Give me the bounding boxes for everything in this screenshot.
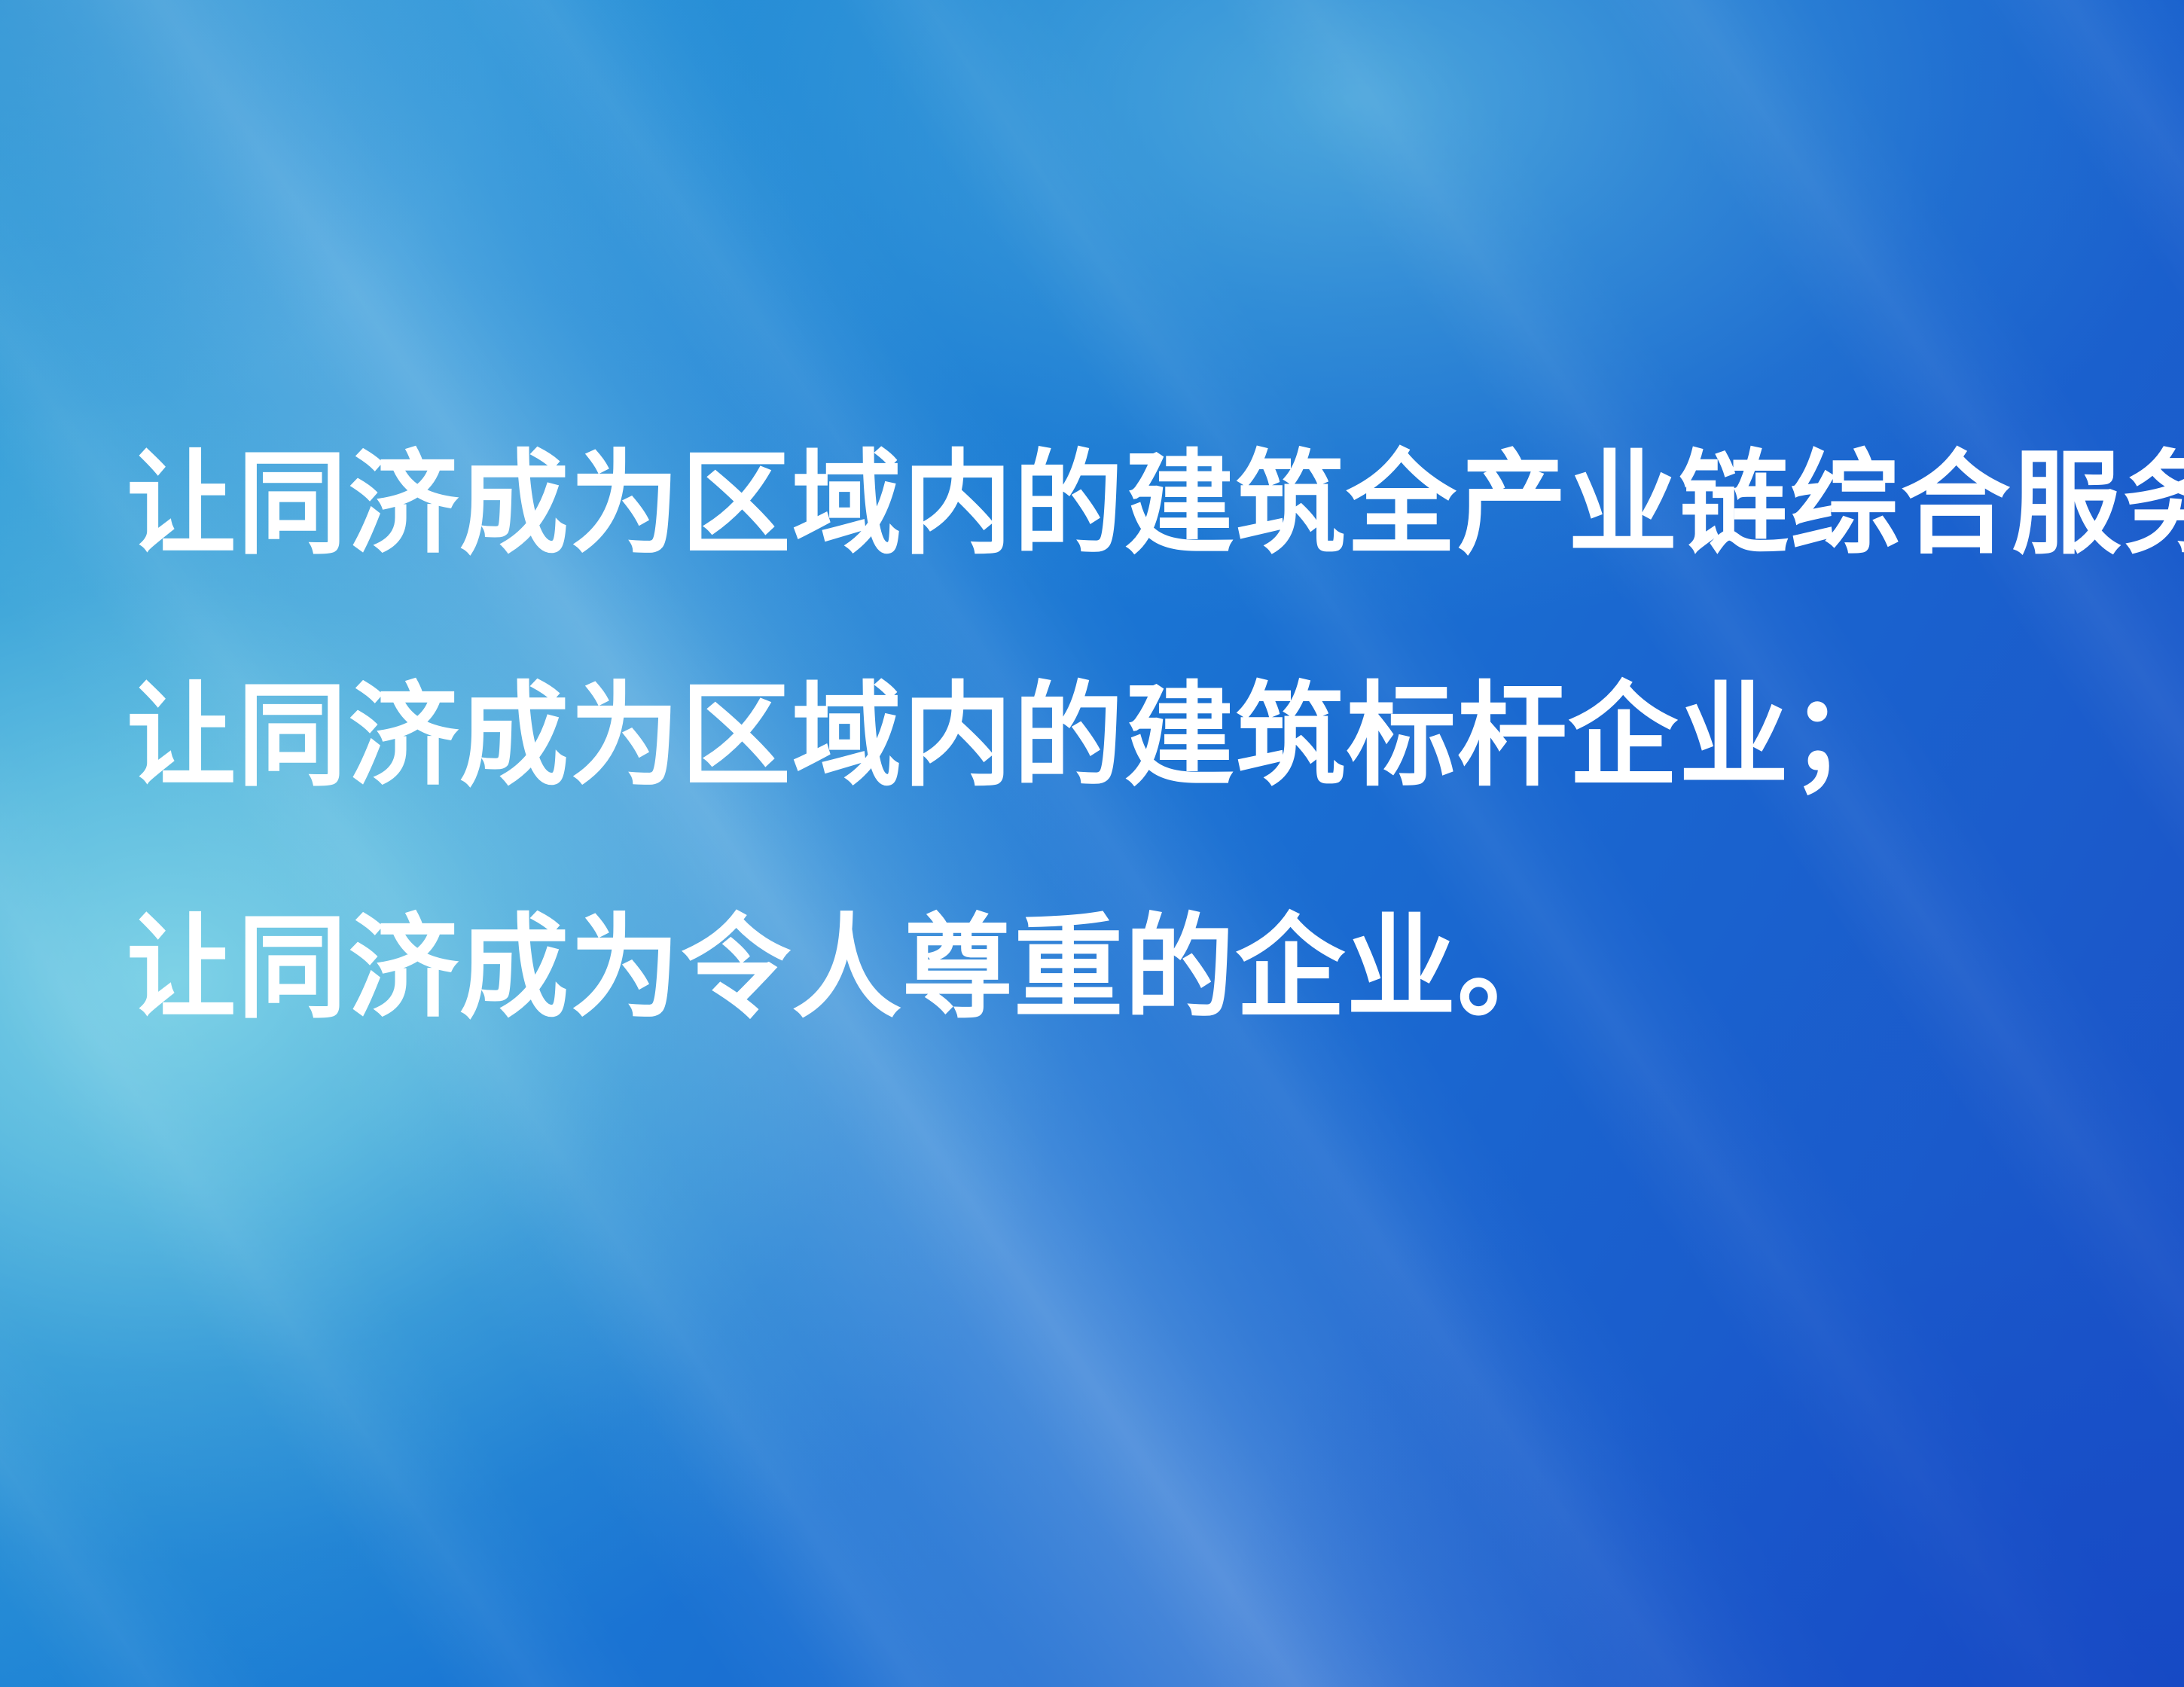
slide-canvas: 让同济成为区域内的建筑全产业链综合服务商； 让同济成为区域内的建筑标杆企业； 让… <box>0 0 2184 1687</box>
slide-line-2: 让同济成为区域内的建筑标杆企业； <box>127 681 2055 794</box>
slide-line-3: 让同济成为令人尊重的企业。 <box>127 913 2055 1026</box>
slide-line-1: 让同济成为区域内的建筑全产业链综合服务商； <box>127 449 2055 562</box>
slide-text-block: 让同济成为区域内的建筑全产业链综合服务商； 让同济成为区域内的建筑标杆企业； 让… <box>127 449 2115 1026</box>
